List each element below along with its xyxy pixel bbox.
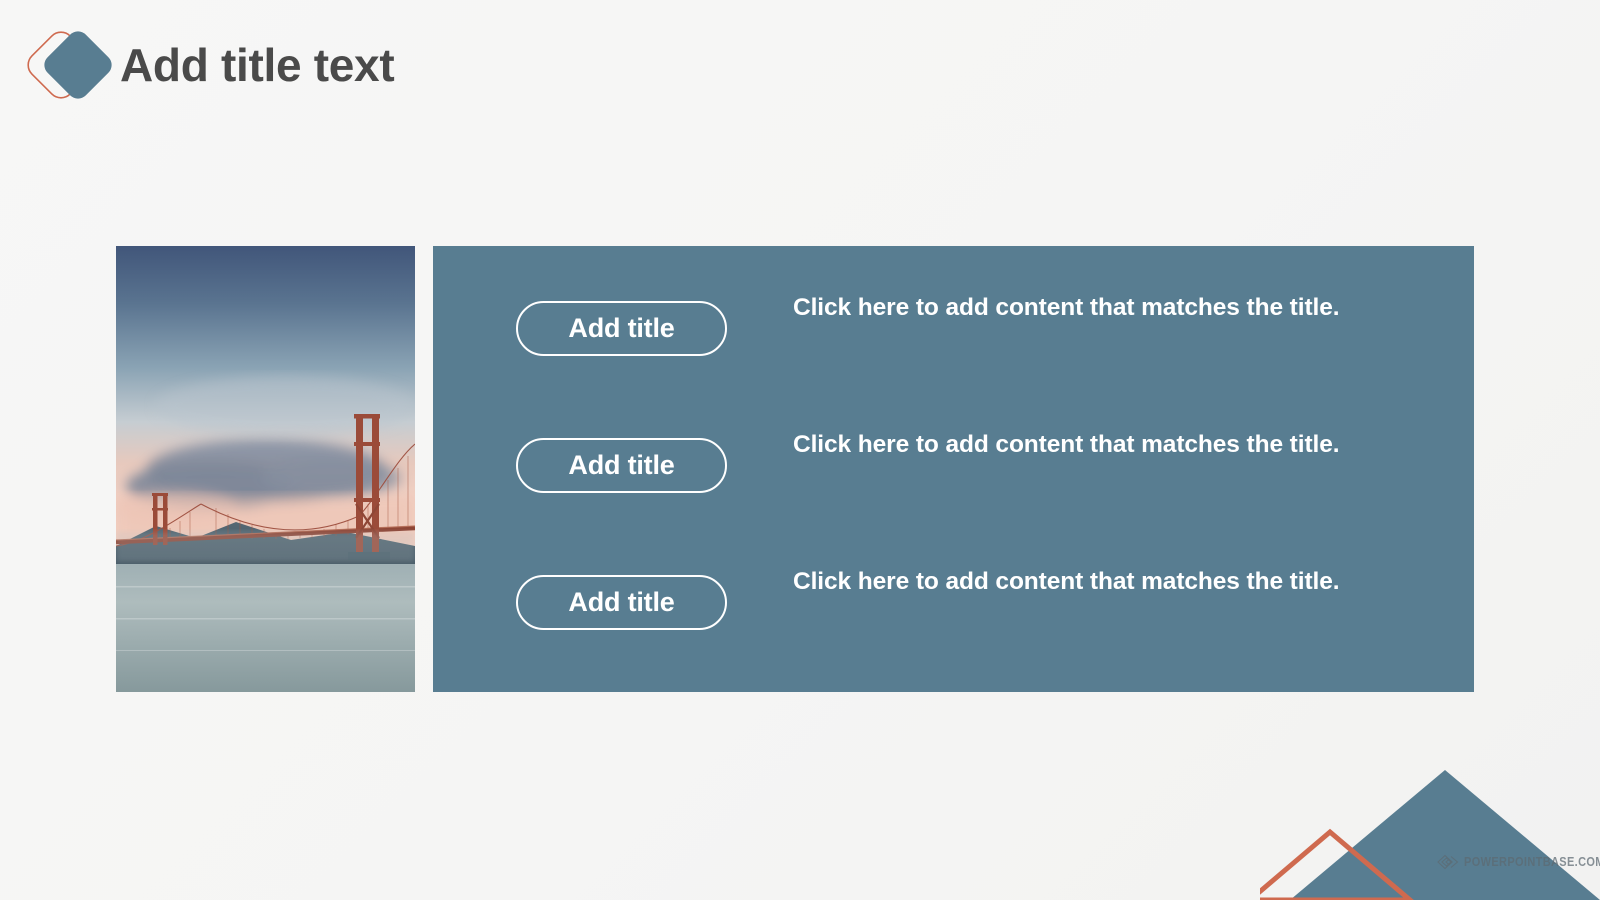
content-row: Add title Click here to add content that… [516, 290, 1444, 410]
content-text-2[interactable]: Click here to add content that matches t… [793, 427, 1339, 463]
slide-header: Add title text [18, 22, 394, 108]
add-title-button-1[interactable]: Add title [516, 301, 727, 356]
content-row: Add title Click here to add content that… [516, 427, 1444, 547]
slide-photo [116, 246, 415, 692]
content-rows: Add title Click here to add content that… [433, 246, 1474, 692]
page-title: Add title text [120, 42, 394, 88]
triangle-outline-icon [1260, 832, 1410, 900]
content-text-1[interactable]: Click here to add content that matches t… [793, 290, 1339, 326]
triangle-filled-icon [1290, 770, 1600, 900]
watermark-logo-icon [1437, 854, 1459, 870]
content-text-3[interactable]: Click here to add content that matches t… [793, 564, 1339, 600]
logo-mark [18, 22, 118, 108]
add-title-button-3[interactable]: Add title [516, 575, 727, 630]
watermark-text: POWERPOINTBASE.COM [1464, 855, 1600, 869]
content-row: Add title Click here to add content that… [516, 564, 1444, 684]
content-panel: Add title Click here to add content that… [433, 246, 1474, 692]
slide-canvas: Add title text [0, 0, 1600, 900]
add-title-button-2[interactable]: Add title [516, 438, 727, 493]
diamond-filled-icon [40, 27, 116, 103]
watermark: POWERPOINTBASE.COM [1437, 854, 1600, 870]
corner-decoration [1260, 760, 1600, 900]
